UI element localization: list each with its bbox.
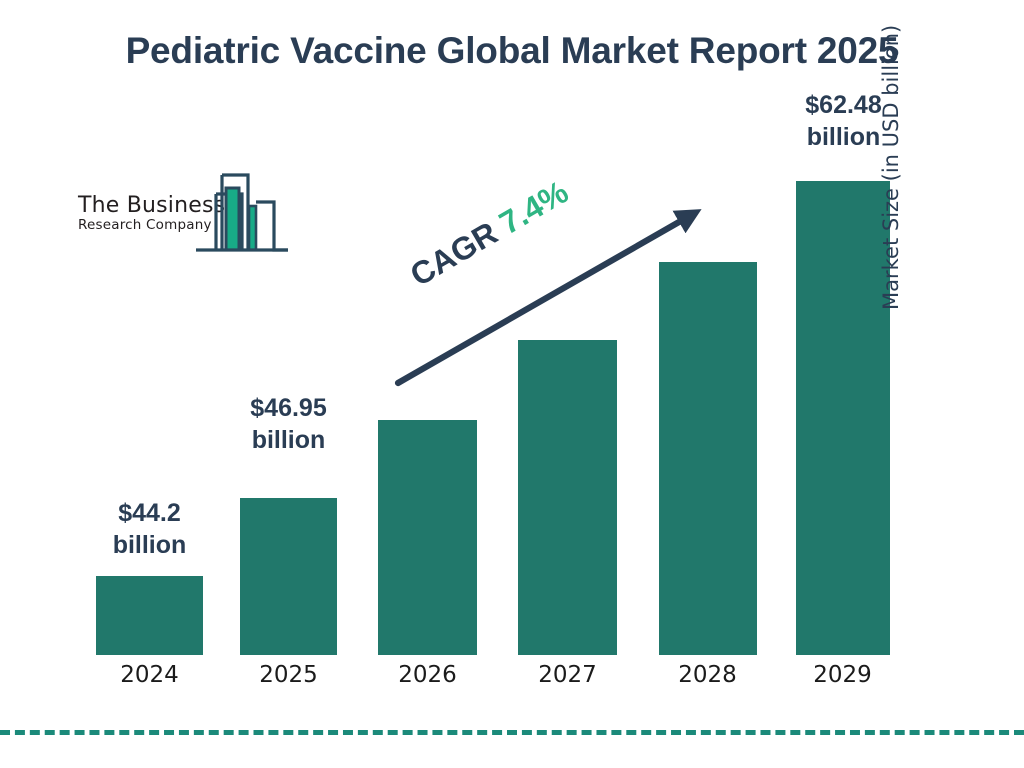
bar-2026 bbox=[378, 420, 477, 655]
bar-value-label-2024: $44.2 billion bbox=[89, 497, 210, 561]
bar-2025 bbox=[240, 498, 337, 655]
x-tick-2026: 2026 bbox=[367, 662, 488, 688]
bar-chart-plot: $44.2 billion $46.95 billion $62.48 bill… bbox=[0, 0, 1024, 768]
bar-2024 bbox=[96, 576, 203, 655]
bar-value-label-2025: $46.95 billion bbox=[228, 392, 349, 456]
x-tick-2024: 2024 bbox=[89, 662, 210, 688]
x-tick-2025: 2025 bbox=[228, 662, 349, 688]
footer-divider bbox=[0, 730, 1024, 735]
bar-value-label-2025-line2: billion bbox=[228, 424, 349, 456]
bar-2029 bbox=[796, 181, 890, 655]
bar-value-label-2024-line2: billion bbox=[89, 529, 210, 561]
x-tick-2028: 2028 bbox=[647, 662, 768, 688]
bar-value-label-2025-line1: $46.95 bbox=[228, 392, 349, 424]
y-axis-title: Market Size (in USD billion) bbox=[879, 0, 903, 310]
growth-trend-arrow bbox=[380, 190, 720, 400]
bar-value-label-2024-line1: $44.2 bbox=[89, 497, 210, 529]
x-tick-2029: 2029 bbox=[782, 662, 903, 688]
chart-page: Pediatric Vaccine Global Market Report 2… bbox=[0, 0, 1024, 768]
x-tick-2027: 2027 bbox=[507, 662, 628, 688]
